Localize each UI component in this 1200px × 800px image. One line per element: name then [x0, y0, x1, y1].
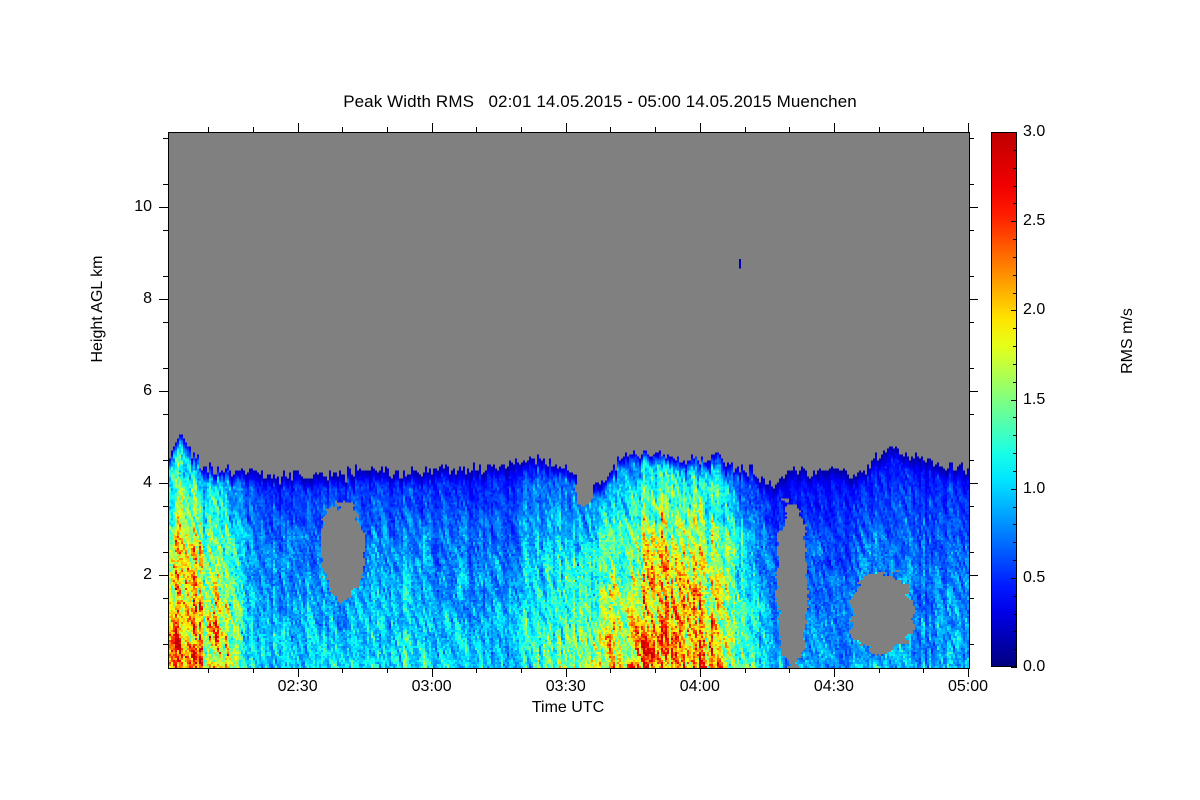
heatmap-image [169, 133, 969, 668]
colorbar-tick-minor [1013, 507, 1017, 508]
x-tick-major [566, 668, 567, 677]
y-tick-right-minor [969, 184, 974, 185]
colorbar-tick-label: 1.0 [1023, 480, 1045, 498]
x-tick-top-minor [387, 127, 388, 132]
x-tick-minor [655, 668, 656, 673]
x-tick-minor [879, 668, 880, 673]
colorbar-tick-label: 1.5 [1023, 391, 1045, 409]
colorbar[interactable]: 0.00.51.01.52.02.53.0 [991, 132, 1017, 667]
x-tick-major [968, 668, 969, 677]
x-tick-top-minor [610, 127, 611, 132]
x-tick-top-minor [745, 127, 746, 132]
colorbar-tick-minor [1013, 293, 1017, 294]
y-tick-minor [163, 414, 168, 415]
x-tick-top [700, 123, 701, 132]
x-tick-top [968, 123, 969, 132]
x-tick-major [298, 668, 299, 677]
x-tick-top-minor [923, 127, 924, 132]
colorbar-tick-minor [1013, 364, 1017, 365]
y-tick-label: 6 [108, 382, 152, 400]
colorbar-tick-minor [1013, 596, 1017, 597]
x-tick-label: 04:30 [789, 678, 879, 696]
y-tick-label: 4 [108, 474, 152, 492]
colorbar-tick-minor [1013, 631, 1017, 632]
colorbar-tick-minor [1013, 328, 1017, 329]
x-tick-top-minor [789, 127, 790, 132]
y-tick-right-minor [969, 322, 974, 323]
x-tick-major [700, 668, 701, 677]
x-tick-top-minor [208, 127, 209, 132]
colorbar-tick-label: 0.5 [1023, 569, 1045, 587]
figure-canvas: Peak Width RMS 02:01 14.05.2015 - 05:00 … [0, 0, 1200, 800]
colorbar-tick [1011, 400, 1017, 401]
x-tick-minor [253, 668, 254, 673]
y-tick-right-minor [969, 414, 974, 415]
colorbar-tick-label: 2.0 [1023, 301, 1045, 319]
colorbar-tick-label: 2.5 [1023, 212, 1045, 230]
x-tick-minor [789, 668, 790, 673]
x-tick-top [566, 123, 567, 132]
y-tick-right-minor [969, 644, 974, 645]
colorbar-tick-minor [1013, 275, 1017, 276]
y-tick-right-minor [969, 368, 974, 369]
colorbar-tick [1011, 489, 1017, 490]
y-tick-minor [163, 598, 168, 599]
y-tick-right [969, 299, 978, 300]
x-tick-top-minor [879, 127, 880, 132]
x-tick-top-minor [655, 127, 656, 132]
page-title: Peak Width RMS 02:01 14.05.2015 - 05:00 … [0, 92, 1200, 112]
colorbar-tick-minor [1013, 417, 1017, 418]
x-tick-label: 03:30 [521, 678, 611, 696]
colorbar-tick-minor [1013, 524, 1017, 525]
colorbar-tick [1011, 310, 1017, 311]
colorbar-tick-minor [1013, 186, 1017, 187]
x-tick-label: 05:00 [923, 678, 1013, 696]
colorbar-tick-minor [1013, 453, 1017, 454]
colorbar-tick-minor [1013, 346, 1017, 347]
y-tick-right [969, 483, 978, 484]
y-tick-minor [163, 276, 168, 277]
colorbar-tick-minor [1013, 239, 1017, 240]
y-tick-major [159, 483, 168, 484]
y-tick-minor [163, 322, 168, 323]
y-tick-right-minor [969, 598, 974, 599]
colorbar-tick-minor [1013, 471, 1017, 472]
x-tick-minor [610, 668, 611, 673]
x-tick-minor [208, 668, 209, 673]
colorbar-tick [1011, 221, 1017, 222]
y-tick-right-minor [969, 552, 974, 553]
y-tick-minor [163, 184, 168, 185]
colorbar-tick [1011, 667, 1017, 668]
x-tick-minor [923, 668, 924, 673]
y-tick-minor [163, 138, 168, 139]
x-axis-title: Time UTC [168, 699, 968, 717]
x-tick-top-minor [521, 127, 522, 132]
x-tick-minor [387, 668, 388, 673]
colorbar-tick-minor [1013, 203, 1017, 204]
x-tick-top-minor [253, 127, 254, 132]
y-tick-right-minor [969, 506, 974, 507]
colorbar-tick-minor [1013, 435, 1017, 436]
x-tick-top-minor [342, 127, 343, 132]
x-tick-top [834, 123, 835, 132]
y-tick-minor [163, 368, 168, 369]
colorbar-title: RMS m/s [1119, 261, 1137, 421]
x-tick-minor [342, 668, 343, 673]
y-tick-label: 2 [108, 566, 152, 584]
x-tick-major [432, 668, 433, 677]
y-tick-right-minor [969, 138, 974, 139]
colorbar-tick-minor [1013, 257, 1017, 258]
x-tick-minor [521, 668, 522, 673]
x-tick-label: 03:00 [387, 678, 477, 696]
x-tick-label: 04:00 [655, 678, 745, 696]
heatmap-plot-area[interactable] [168, 132, 970, 669]
x-tick-top [432, 123, 433, 132]
y-tick-right-minor [969, 230, 974, 231]
colorbar-tick-minor [1013, 542, 1017, 543]
x-tick-top [298, 123, 299, 132]
y-tick-minor [163, 460, 168, 461]
colorbar-tick-minor [1013, 614, 1017, 615]
colorbar-tick-label: 0.0 [1023, 658, 1045, 676]
x-tick-minor [476, 668, 477, 673]
colorbar-tick-minor [1013, 382, 1017, 383]
x-tick-minor [745, 668, 746, 673]
y-tick-major [159, 575, 168, 576]
colorbar-tick [1011, 132, 1017, 133]
y-tick-major [159, 299, 168, 300]
y-tick-major [159, 207, 168, 208]
y-tick-right [969, 575, 978, 576]
colorbar-tick-minor [1013, 560, 1017, 561]
x-tick-top-minor [476, 127, 477, 132]
y-tick-right-minor [969, 276, 974, 277]
y-tick-label: 10 [108, 198, 152, 216]
y-tick-major [159, 391, 168, 392]
y-tick-right [969, 391, 978, 392]
y-tick-right [969, 207, 978, 208]
colorbar-tick-minor [1013, 168, 1017, 169]
colorbar-tick [1011, 578, 1017, 579]
y-tick-minor [163, 230, 168, 231]
colorbar-tick-minor [1013, 150, 1017, 151]
x-tick-major [834, 668, 835, 677]
y-tick-minor [163, 506, 168, 507]
y-tick-right-minor [969, 460, 974, 461]
y-tick-minor [163, 644, 168, 645]
y-tick-minor [163, 552, 168, 553]
colorbar-tick-label: 3.0 [1023, 123, 1045, 141]
y-axis-title: Height AGL km [89, 199, 107, 419]
colorbar-tick-minor [1013, 649, 1017, 650]
y-tick-label: 8 [108, 290, 152, 308]
x-tick-label: 02:30 [253, 678, 343, 696]
